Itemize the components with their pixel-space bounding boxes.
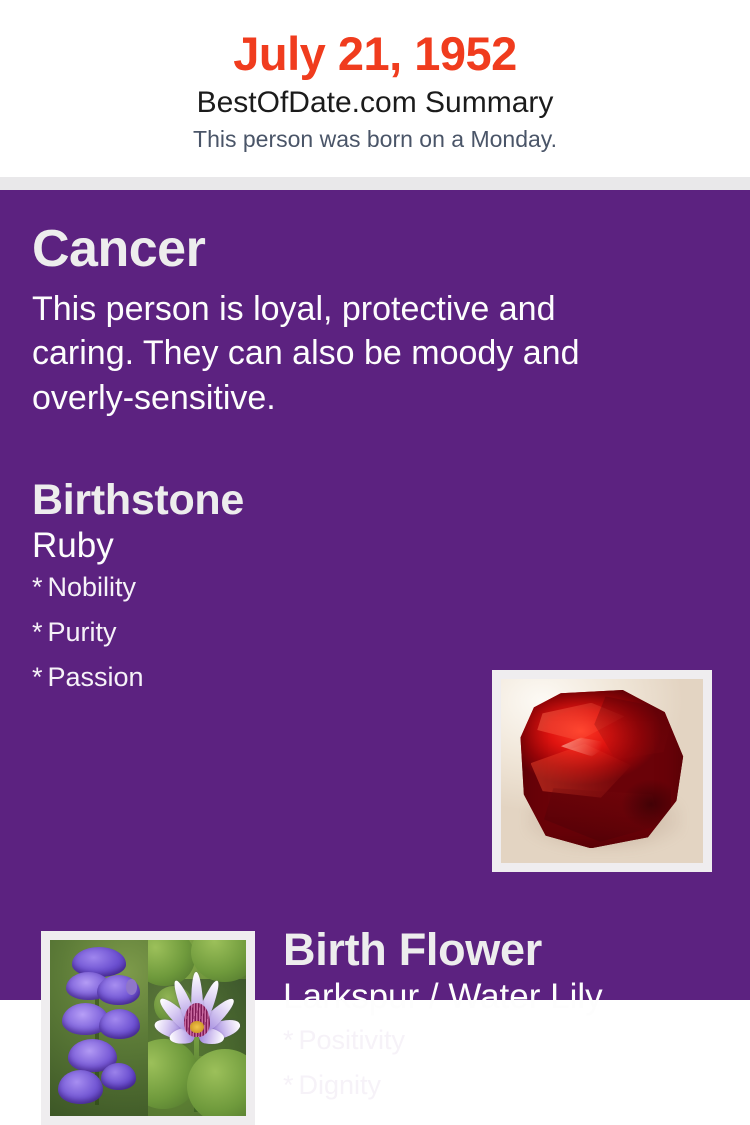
larkspur-bloom-icon — [101, 1063, 136, 1089]
trait-label: Dignity — [299, 1070, 382, 1100]
list-item: *Passion — [32, 664, 482, 691]
birthstone-image — [501, 679, 703, 863]
list-item: *Positivity — [283, 1027, 723, 1054]
trait-label: Purity — [48, 617, 117, 647]
list-item: *Nobility — [32, 574, 482, 601]
birth-flower-name: Larkspur / Water Lily — [283, 977, 723, 1016]
birthstone-trait-list: *Nobility *Purity *Passion — [32, 574, 482, 691]
list-item: *Dignity — [283, 1072, 723, 1099]
larkspur-bloom-icon — [58, 1070, 103, 1103]
birth-flower-heading: Birth Flower — [283, 925, 723, 975]
birthstone-name: Ruby — [32, 526, 482, 565]
birth-flower-trait-list: *Positivity *Dignity — [283, 1027, 723, 1099]
bullet-asterisk-icon: * — [32, 572, 43, 602]
page-title-date: July 21, 1952 — [0, 26, 750, 81]
trait-label: Positivity — [299, 1025, 406, 1055]
site-summary-label: BestOfDate.com Summary — [0, 84, 750, 122]
zodiac-section: Cancer This person is loyal, protective … — [32, 190, 718, 421]
birth-flower-image — [50, 940, 246, 1116]
bullet-asterisk-icon: * — [283, 1025, 294, 1055]
birthstone-image-frame — [492, 670, 712, 872]
ruby-photo-backdrop — [501, 679, 703, 863]
trait-label: Nobility — [48, 572, 137, 602]
birth-flower-image-frame — [41, 931, 255, 1125]
list-item: *Purity — [32, 619, 482, 646]
zodiac-description: This person is loyal, protective and car… — [32, 287, 647, 422]
zodiac-sign-name: Cancer — [32, 222, 718, 277]
lily-core — [190, 1021, 204, 1033]
larkspur-photo — [50, 940, 148, 1116]
birthstone-heading: Birthstone — [32, 477, 482, 524]
larkspur-bloom-icon — [99, 1009, 140, 1039]
birthstone-section: Birthstone Ruby *Nobility *Purity *Passi… — [32, 477, 482, 709]
ruby-facet — [594, 696, 674, 759]
bullet-asterisk-icon: * — [32, 617, 43, 647]
bullet-asterisk-icon: * — [283, 1070, 294, 1100]
header-divider — [0, 177, 750, 190]
summary-panel: Cancer This person is loyal, protective … — [0, 190, 750, 1000]
page-header: July 21, 1952 BestOfDate.com Summary Thi… — [0, 0, 750, 177]
flower-photo-split — [50, 940, 246, 1116]
birth-flower-section: Birth Flower Larkspur / Water Lily *Posi… — [283, 925, 723, 1117]
trait-label: Passion — [48, 662, 144, 692]
water-lily-photo — [148, 940, 246, 1116]
born-day-label: This person was born on a Monday. — [0, 125, 750, 155]
larkspur-bud — [126, 979, 137, 995]
bullet-asterisk-icon: * — [32, 662, 43, 692]
